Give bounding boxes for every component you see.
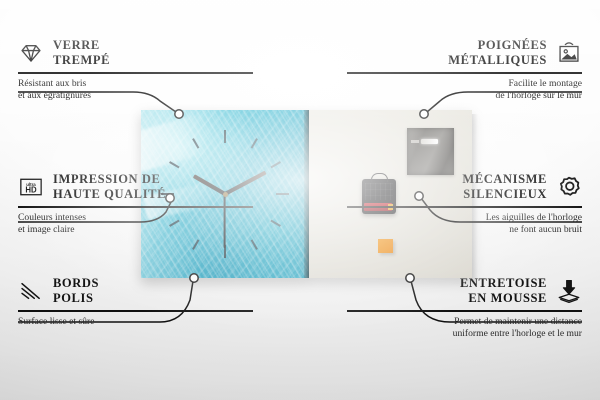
feature-impression-haute-qualite: ultra HD IMPRESSION DE HAUTE QUALITÉ Cou… xyxy=(18,172,253,236)
feature-desc-line2: ne font aucun bruit xyxy=(347,224,582,236)
feature-title-line1: BORDS xyxy=(53,276,99,291)
feature-rule xyxy=(347,206,582,208)
down-arrow-pad-icon xyxy=(556,278,582,304)
polished-edge-icon xyxy=(18,278,44,304)
feature-title-line2: TREMPÉ xyxy=(53,53,110,68)
feature-rule xyxy=(18,72,253,74)
foam-spacer-pad xyxy=(378,239,393,253)
feature-rule xyxy=(347,72,582,74)
feature-desc-line1: Résistant aux bris xyxy=(18,78,253,90)
feature-desc-line1: Couleurs intenses xyxy=(18,212,253,224)
feature-desc-line1: Permet de maintenir une distance xyxy=(347,316,582,328)
gear-icon xyxy=(556,174,582,200)
feature-rule xyxy=(18,310,253,312)
feature-desc-line2: uniforme entre l'horloge et le mur xyxy=(347,328,582,340)
feature-title-line2: SILENCIEUX xyxy=(462,187,547,202)
diamond-icon xyxy=(18,40,44,66)
feature-title-line1: VERRE xyxy=(53,38,110,53)
metal-hanger-plate xyxy=(407,128,454,175)
ultra-hd-icon: ultra HD xyxy=(18,174,44,200)
feature-title-line1: IMPRESSION DE xyxy=(53,172,166,187)
feature-desc-line2: de l'horloge sur le mur xyxy=(347,90,582,102)
feature-desc-line1: Surface lisse et sûre xyxy=(18,316,253,328)
feature-mecanisme-silencieux: MÉCANISME SILENCIEUX Les aiguilles de l'… xyxy=(347,172,582,236)
feature-title-line1: MÉCANISME xyxy=(462,172,547,187)
feature-title-line2: HAUTE QUALITÉ xyxy=(53,187,166,202)
picture-frame-hanger-icon xyxy=(556,40,582,66)
feature-title-line1: POIGNÉES xyxy=(448,38,547,53)
feature-poignees-metalliques: POIGNÉES MÉTALLIQUES Facilite le montage… xyxy=(347,38,582,102)
feature-rule xyxy=(18,206,253,208)
feature-verre-trempe: VERRE TREMPÉ Résistant aux bris et aux é… xyxy=(18,38,253,102)
feature-rule xyxy=(347,310,582,312)
infographic-canvas: VERRE TREMPÉ Résistant aux bris et aux é… xyxy=(0,0,600,400)
feature-desc-line1: Facilite le montage xyxy=(347,78,582,90)
feature-desc-line2: et image claire xyxy=(18,224,253,236)
feature-entretoise-en-mousse: ENTRETOISE EN MOUSSE Permet de maintenir… xyxy=(347,276,582,340)
feature-title-line1: ENTRETOISE xyxy=(460,276,547,291)
ultra-hd-icon-large-text: HD xyxy=(25,186,37,195)
feature-title-line2: POLIS xyxy=(53,291,99,306)
feature-desc-line1: Les aiguilles de l'horloge xyxy=(347,212,582,224)
feature-bords-polis: BORDS POLIS Surface lisse et sûre xyxy=(18,276,253,328)
feature-title-line2: EN MOUSSE xyxy=(460,291,547,306)
feature-desc-line2: et aux égratignures xyxy=(18,90,253,102)
feature-title-line2: MÉTALLIQUES xyxy=(448,53,547,68)
